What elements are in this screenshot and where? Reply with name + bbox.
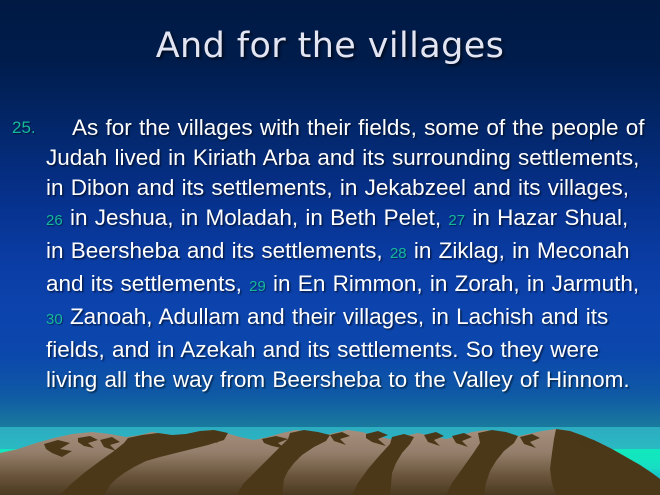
slide-title-container: And for the villages bbox=[0, 26, 660, 66]
verse-number-25: 25. bbox=[8, 113, 46, 143]
mountain-range-icon bbox=[0, 427, 660, 495]
verse-text-segment-5: in En Rimmon, in Zorah, in Jarmuth, bbox=[266, 271, 639, 296]
page-title: And for the villages bbox=[156, 26, 505, 66]
verse-number-29: 29 bbox=[249, 278, 266, 295]
verse-number-27: 27 bbox=[448, 212, 465, 229]
mountain-scenery-graphic bbox=[0, 427, 660, 495]
presentation-slide: And for the villages 25. As for the vill… bbox=[0, 0, 660, 495]
verse-number-30: 30 bbox=[46, 311, 63, 328]
verse-text-segment-1: As for the villages with their fields, s… bbox=[46, 115, 645, 200]
verse-text-segment-2: in Jeshua, in Moladah, in Beth Pelet, bbox=[63, 205, 449, 230]
verse-number-28: 28 bbox=[390, 245, 407, 262]
mountain-shadow-far-right bbox=[550, 429, 660, 495]
verse-text-segment-6: Zanoah, Adullam and their villages, in L… bbox=[46, 304, 630, 392]
verse-paragraph: 25. As for the villages with their field… bbox=[8, 113, 652, 395]
verse-number-26: 26 bbox=[46, 212, 63, 229]
verse-body-text: As for the villages with their fields, s… bbox=[46, 113, 652, 395]
slide-body-container: 25. As for the villages with their field… bbox=[8, 113, 652, 395]
